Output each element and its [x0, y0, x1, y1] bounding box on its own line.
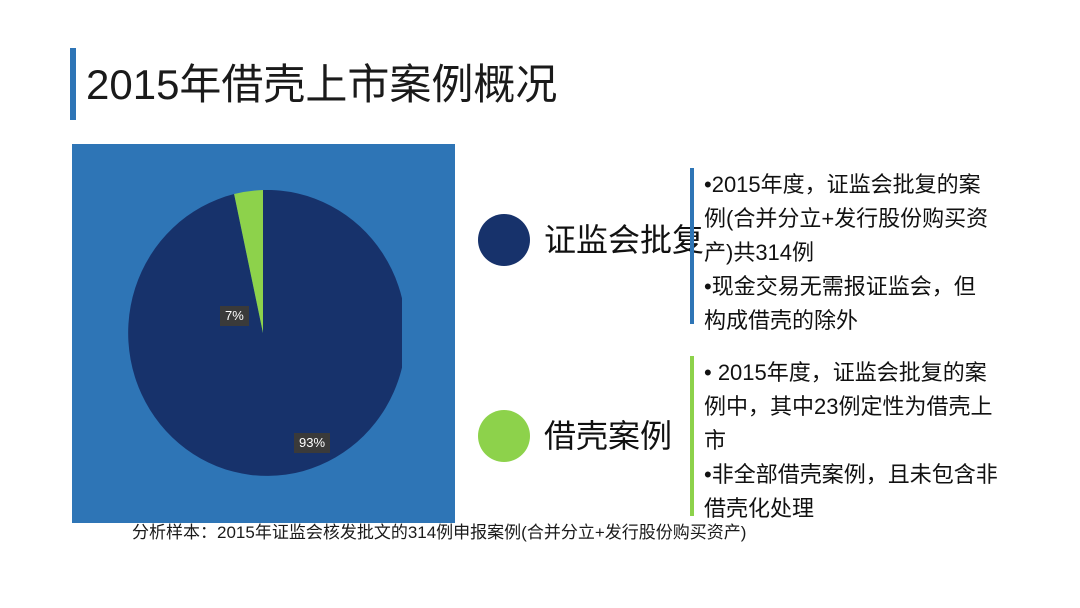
note-line: 产)共314例: [704, 236, 1060, 270]
note-line: 市: [704, 424, 1060, 458]
legend-swatch-shell: [478, 410, 530, 462]
note-line: 例(合并分立+发行股份购买资: [704, 202, 1060, 236]
pie-label-shell: 7%: [220, 306, 249, 326]
note-line: 构成借壳的除外: [704, 304, 1060, 338]
pie-chart-svg: [124, 190, 402, 476]
note-line: • 2015年度，证监会批复的案: [704, 356, 1060, 390]
note-block-shell: • 2015年度，证监会批复的案 例中，其中23例定性为借壳上 市 •非全部借壳…: [690, 356, 1060, 516]
note-block-csrc: •2015年度，证监会批复的案 例(合并分立+发行股份购买资 产)共314例 •…: [690, 168, 1060, 324]
note-line: •现金交易无需报证监会，但: [704, 270, 1060, 304]
note-body-csrc: •2015年度，证监会批复的案 例(合并分立+发行股份购买资 产)共314例 •…: [690, 168, 1060, 338]
note-line: •非全部借壳案例，且未包含非: [704, 458, 1060, 492]
legend-label-shell: 借壳案例: [544, 416, 672, 456]
note-line: •2015年度，证监会批复的案: [704, 168, 1060, 202]
legend-swatch-csrc: [478, 214, 530, 266]
footnote: 分析样本：2015年证监会核发批文的314例申报案例(合并分立+发行股份购买资产…: [132, 520, 812, 546]
note-rule-shell: [690, 356, 694, 516]
note-rule-csrc: [690, 168, 694, 324]
title-accent-bar: [70, 48, 76, 120]
page-title: 2015年借壳上市案例概况: [86, 56, 557, 114]
legend-item-csrc: 证监会批复: [478, 214, 704, 266]
note-body-shell: • 2015年度，证监会批复的案 例中，其中23例定性为借壳上 市 •非全部借壳…: [690, 356, 1060, 526]
legend-item-shell: 借壳案例: [478, 410, 672, 462]
pie-label-csrc: 93%: [294, 433, 330, 453]
pie-slice-csrc: [128, 190, 402, 476]
note-line: 例中，其中23例定性为借壳上: [704, 390, 1060, 424]
legend-label-csrc: 证监会批复: [544, 220, 704, 260]
pie-chart: 7% 93%: [124, 190, 402, 476]
chart-panel: 7% 93%: [72, 144, 455, 523]
